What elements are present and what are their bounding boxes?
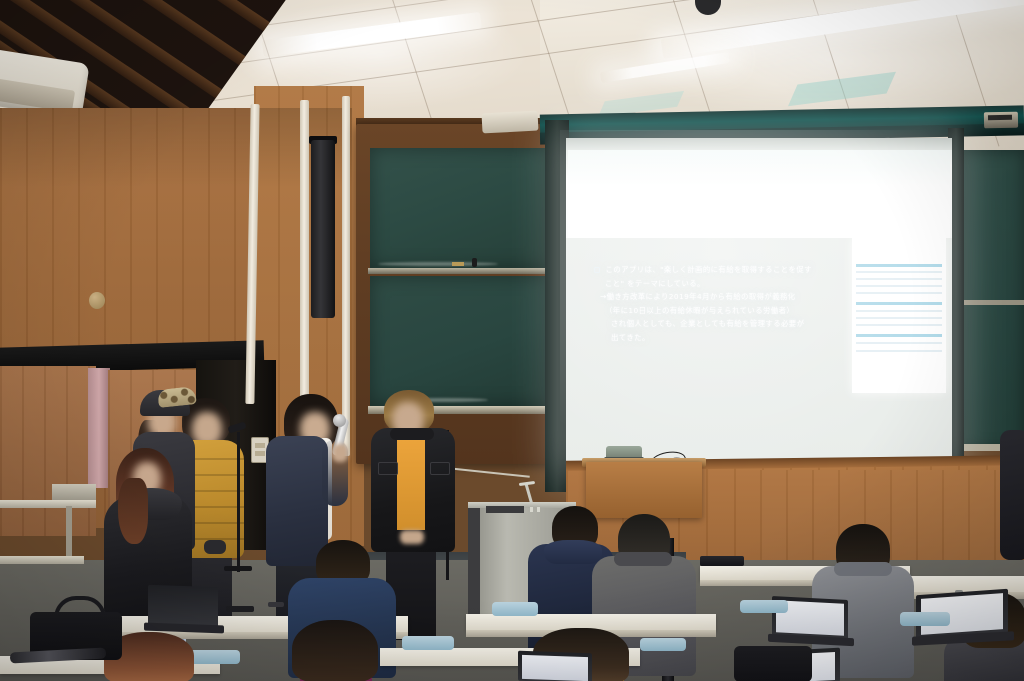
jacket-pocket-left [378,462,398,475]
lecture-hall-photo: ◻このアプリは、"楽しく計画的に有給を取得することを促す こと" をテーマにして… [0,0,1024,681]
microphone-stand-left [237,432,240,572]
clasped-hands [400,530,424,544]
hands [204,540,226,554]
collar [614,552,672,566]
hair-side [118,478,148,544]
screen-roller-slot [988,115,1012,120]
chair-back[interactable] [900,612,950,626]
blackboard-chalk-tray-upper [368,268,550,274]
blackboard-panel-upper [370,148,546,268]
chair-back[interactable] [640,638,686,651]
switch-1[interactable] [255,443,265,448]
chalk-dust [378,262,498,266]
mic-stand-base [224,566,252,571]
chair-back[interactable] [402,636,454,650]
side-shelf-lower [0,556,84,564]
slide-bullet-icon: ◻ [594,265,601,274]
pillar-accent-strip [88,368,110,488]
jacket-pocket-right [430,462,450,475]
chair-back[interactable] [190,650,240,664]
eraser [472,258,477,267]
slide-line-5: され個人としても、企業としても有給を管理する必要が [594,317,844,331]
slide-header-block [568,150,950,240]
blackboard-panel-lower [370,276,546,406]
cabinet-knob-2[interactable] [537,507,540,512]
blackboard-right-tray [962,300,1024,305]
screen-top-band [566,138,952,150]
side-shelf-upper [0,500,96,508]
jacket-collar [390,428,434,440]
black-bag-rear [734,646,812,681]
av-cabinet-side [468,508,480,620]
cabinet-knob-1[interactable] [530,507,533,512]
orange-tshirt-front [397,434,425,530]
slide-line-3: →働き方改革により2019年4月から有給の取得が義務化 [594,290,844,304]
audience-far-right-figure [1000,430,1024,560]
laptop-closed-back[interactable] [700,556,744,566]
hand [332,444,348,462]
conduit-pipe-3 [342,96,350,456]
projector-mount [482,111,539,134]
projection-screen: ◻このアプリは、"楽しく計画的に有給を取得することを促す こと" をテーマにして… [566,138,952,468]
chair-back[interactable] [740,600,788,613]
chalk-piece [452,262,464,266]
wood-wall-lower-left [0,366,96,536]
slide-app-mockup [852,238,946,393]
av-control-panel[interactable] [486,506,524,513]
device-on-desk[interactable] [226,606,254,612]
device-on-desk-2[interactable] [268,602,284,607]
slide-line-2: こと" をテーマにしている。 [594,277,844,291]
slide-text-block: ◻このアプリは、"楽しく計画的に有給を取得することを促す こと" をテーマにして… [594,263,844,345]
conduit-pipe-2 [300,100,309,440]
wall-plate [89,292,105,309]
slide-line-6: 出てきた。 [594,331,844,345]
slide-line-1: ◻このアプリは、"楽しく計画的に有給を取得することを促す [594,263,844,277]
slide-line-4: （年に10日以上の有給休暇が与えられている労働者） [594,304,844,318]
hood [544,540,602,564]
switch-2[interactable] [255,451,265,456]
column-speaker-icon [311,140,335,318]
wooden-podium [586,462,702,518]
navy-blazer [266,436,328,566]
collar [834,562,892,576]
bob-hair [292,620,378,681]
chair-back[interactable] [492,602,538,616]
